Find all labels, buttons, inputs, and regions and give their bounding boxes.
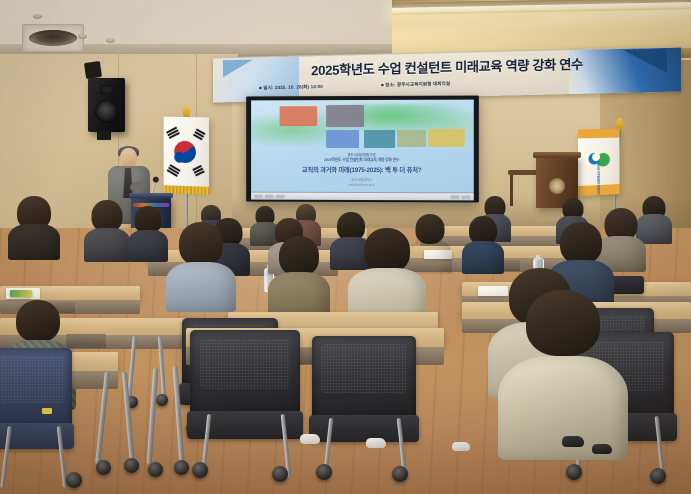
- office-chair-blue[interactable]: [0, 348, 72, 478]
- attendee-head: [560, 222, 602, 264]
- toolbar-chip[interactable]: [450, 195, 459, 199]
- chair-label-tag: [42, 408, 52, 414]
- chair-backrest: [0, 348, 72, 429]
- trigram-gam: [192, 128, 205, 141]
- slide-subtitle: 2025학년도 수업 컨설턴트 미래교육 역량 강화 연수: [251, 158, 474, 163]
- shoe: [300, 434, 320, 444]
- attendee: [128, 206, 168, 262]
- slide-swatch-orange: [280, 106, 317, 126]
- attendee: [348, 228, 426, 320]
- attendee-torso: [84, 228, 130, 262]
- attendee: [462, 216, 504, 274]
- slide-swatch-gold: [429, 129, 465, 147]
- attendee-torso: [128, 230, 168, 262]
- chair-caster: [192, 462, 208, 478]
- flag-text: 광주시교육지원청기: [591, 163, 600, 191]
- chair-backrest: [190, 330, 300, 417]
- shoe: [592, 444, 612, 454]
- flag-band-top: [578, 129, 619, 139]
- chair-mesh: [200, 339, 290, 389]
- trigram-gon: [192, 165, 205, 178]
- screen-toolbar[interactable]: [251, 192, 474, 201]
- speaker-tweeter: [100, 85, 113, 94]
- ceiling-speaker-dot: [106, 38, 115, 43]
- presenter-head: [120, 148, 137, 168]
- lectern-top: [533, 152, 581, 158]
- chair-mesh: [321, 344, 406, 393]
- table-caster: [124, 458, 139, 473]
- toolbar-chip[interactable]: [462, 195, 471, 199]
- table-caster: [148, 462, 163, 477]
- attendee: [8, 196, 60, 260]
- chair-caster: [566, 464, 582, 480]
- shoe: [562, 436, 584, 447]
- trigram-geon: [166, 127, 181, 141]
- toolbar-chip[interactable]: [276, 194, 285, 198]
- chair-mesh: [0, 356, 65, 403]
- booklet: [10, 290, 32, 297]
- chair-caster: [272, 466, 288, 482]
- banner-place: ■ 장소: 광주시교육지원청 대회의실: [381, 81, 450, 89]
- attendee-torso: [166, 262, 236, 312]
- projection-screen: 광주시교육지원청 주관 2025학년도 수업 컨설턴트 미래교육 역량 강화 연…: [246, 96, 479, 203]
- trigram-ri: [166, 164, 181, 178]
- attendee: [84, 200, 130, 262]
- attendee-foreground: [498, 290, 628, 460]
- vent-grill: [29, 30, 77, 46]
- projected-slide: 광주시교육지원청 주관 2025학년도 수업 컨설턴트 미래교육 역량 강화 연…: [251, 100, 474, 193]
- seminar-room-photograph: 2025학년도 수업 컨설턴트 미래교육 역량 강화 연수 ■ 일시: 2025…: [0, 0, 691, 494]
- ceiling-speaker-dot: [78, 34, 87, 39]
- speaker-mount-bracket: [84, 61, 102, 79]
- speaker-cone: [95, 100, 118, 123]
- attendee: [268, 236, 330, 320]
- shoe: [452, 442, 470, 451]
- attendee: [166, 222, 236, 312]
- slide-swatch-teal: [364, 130, 395, 148]
- attendee-head: [179, 222, 223, 266]
- education-office-flag: 광주시교육지원청기: [578, 129, 619, 196]
- slide-title: 교직의 과거와 미래(1975-2025): 백 투 더 퓨처?: [251, 165, 474, 174]
- shoe: [366, 438, 386, 448]
- table-caster: [96, 460, 111, 475]
- lectern-emblem: [549, 178, 565, 194]
- slide-kicker: 광주시교육지원청 주관: [251, 151, 474, 156]
- attendee-head: [364, 228, 410, 273]
- table-caster: [156, 394, 168, 406]
- chair-caster: [66, 472, 82, 488]
- attendee-torso: [8, 224, 60, 260]
- chair-caster: [650, 468, 666, 484]
- slide-swatch-blue: [326, 130, 359, 147]
- lectern-top: [129, 193, 173, 198]
- slide-swatch-sage: [397, 130, 426, 147]
- attendee-head: [16, 300, 60, 342]
- office-chair[interactable]: [190, 330, 300, 470]
- slide-swatch-mauve: [326, 105, 364, 127]
- attendee-head: [279, 236, 319, 276]
- attendee-head: [526, 290, 600, 356]
- toolbar-chip[interactable]: [254, 194, 263, 198]
- ceiling-air-vent: [22, 24, 84, 52]
- chair-caster: [316, 464, 332, 480]
- speaker-foot: [97, 131, 111, 140]
- office-chair[interactable]: [312, 336, 416, 472]
- wall-speaker: [88, 78, 125, 132]
- slide-email: paul.kim@knue.ac.kr: [251, 183, 474, 188]
- banner-date: ■ 일시: 2025. 10. 28(화) 14:00: [259, 84, 323, 92]
- korean-national-flag: [164, 117, 209, 191]
- chair-backrest: [312, 336, 416, 420]
- table-caster: [174, 460, 189, 475]
- ceiling-speaker-dot: [33, 14, 42, 19]
- toolbar-chip[interactable]: [265, 194, 274, 198]
- chair-caster: [392, 466, 408, 482]
